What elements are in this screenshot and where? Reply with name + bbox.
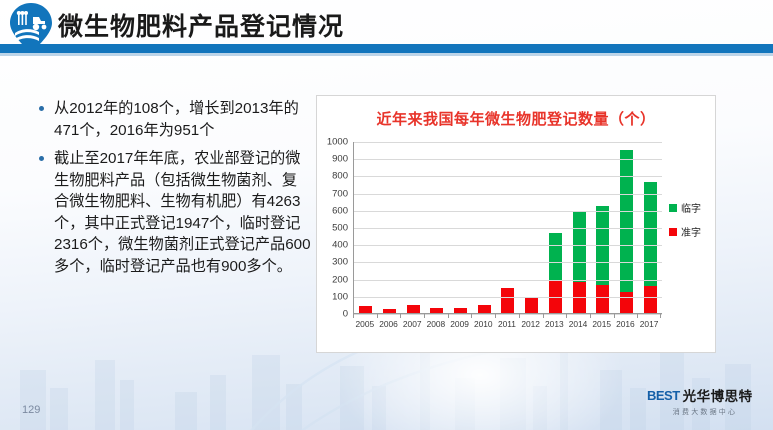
x-axis-tick-label: 2005 bbox=[353, 319, 377, 329]
chart-plot-area: 10009008007006005004003002001000 2005200… bbox=[317, 142, 717, 354]
x-axis-tick-label: 2010 bbox=[471, 319, 495, 329]
y-axis-tick-label: 500 bbox=[332, 223, 348, 234]
x-axis-tick-label: 2007 bbox=[400, 319, 424, 329]
x-axis-labels: 2005200620072008200920102011201220132014… bbox=[353, 319, 661, 329]
bar-segment-zhunzi[interactable] bbox=[525, 298, 538, 314]
gridline bbox=[354, 194, 662, 195]
bar-segment-linzi[interactable] bbox=[573, 211, 586, 282]
chart-panel: 近年来我国每年微生物肥登记数量（个） 100090080070060050040… bbox=[316, 95, 716, 353]
legend-label: 准字 bbox=[681, 224, 701, 239]
gridline bbox=[354, 228, 662, 229]
agriculture-location-pin-icon bbox=[8, 2, 54, 54]
bar-segment-linzi[interactable] bbox=[644, 182, 657, 286]
x-axis-tick-label: 2013 bbox=[543, 319, 567, 329]
bar-segment-zhunzi[interactable] bbox=[620, 292, 633, 314]
bar-segment-zhunzi[interactable] bbox=[573, 282, 586, 314]
list-item: 从2012年的108个，增长到2013年的471个，2016年为951个 bbox=[36, 98, 311, 141]
x-axis-tick-label: 2015 bbox=[590, 319, 614, 329]
bar-segment-linzi[interactable] bbox=[549, 233, 562, 280]
stacked-bar[interactable] bbox=[501, 288, 514, 314]
brand-subtitle: 消费大数据中心 bbox=[647, 407, 763, 417]
stacked-bar[interactable] bbox=[620, 150, 633, 314]
y-axis-tick-label: 1000 bbox=[327, 137, 348, 148]
x-axis-tick-label: 2006 bbox=[377, 319, 401, 329]
legend-swatch bbox=[669, 204, 677, 212]
gridline bbox=[354, 159, 662, 160]
x-axis-tick-label: 2017 bbox=[637, 319, 661, 329]
y-axis-tick-label: 700 bbox=[332, 188, 348, 199]
bar-segment-linzi[interactable] bbox=[620, 150, 633, 291]
x-axis-tick-label: 2009 bbox=[448, 319, 472, 329]
bar-segment-zhunzi[interactable] bbox=[596, 285, 609, 314]
plot-grid bbox=[353, 142, 661, 314]
legend-swatch bbox=[669, 228, 677, 236]
chart-title: 近年来我国每年微生物肥登记数量（个） bbox=[317, 96, 715, 129]
header-accent-bar-secondary bbox=[0, 53, 773, 56]
y-axis-tick-label: 400 bbox=[332, 240, 348, 251]
gridline bbox=[354, 176, 662, 177]
page-title: 微生物肥料产品登记情况 bbox=[58, 7, 344, 43]
legend-item[interactable]: 准字 bbox=[669, 224, 715, 239]
gridline bbox=[354, 245, 662, 246]
y-axis-tick-label: 0 bbox=[343, 309, 348, 320]
list-item: 截止至2017年年底，农业部登记的微生物肥料产品（包括微生物菌剂、复合微生物肥料… bbox=[36, 148, 311, 277]
brand-watermark: BEST 光华博思特 消费大数据中心 bbox=[647, 385, 763, 417]
brand-name: 光华博思特 bbox=[683, 385, 753, 405]
y-axis-tick-label: 800 bbox=[332, 171, 348, 182]
stacked-bar[interactable] bbox=[644, 182, 657, 314]
x-axis-tick-label: 2012 bbox=[519, 319, 543, 329]
y-axis-tick-label: 200 bbox=[332, 274, 348, 285]
x-axis-tick-label: 2014 bbox=[566, 319, 590, 329]
legend-label: 临字 bbox=[681, 200, 701, 215]
gridline bbox=[354, 297, 662, 298]
bar-segment-zhunzi[interactable] bbox=[644, 286, 657, 314]
x-axis-tick-label: 2011 bbox=[495, 319, 519, 329]
y-axis-tick-label: 300 bbox=[332, 257, 348, 268]
bullet-list: 从2012年的108个，增长到2013年的471个，2016年为951个 截止至… bbox=[36, 98, 311, 285]
y-axis-tick-label: 100 bbox=[332, 291, 348, 302]
gridline bbox=[354, 280, 662, 281]
gridline bbox=[354, 142, 662, 143]
gridline bbox=[354, 262, 662, 263]
brand-mark: BEST bbox=[647, 388, 680, 403]
x-axis-tick-label: 2008 bbox=[424, 319, 448, 329]
page-number: 129 bbox=[22, 404, 40, 416]
bar-segment-zhunzi[interactable] bbox=[501, 288, 514, 314]
x-axis-tick-label: 2016 bbox=[614, 319, 638, 329]
y-axis-tick-label: 900 bbox=[332, 154, 348, 165]
y-axis-tick-label: 600 bbox=[332, 205, 348, 216]
legend-item[interactable]: 临字 bbox=[669, 200, 715, 215]
gridline bbox=[354, 211, 662, 212]
y-axis-labels: 10009008007006005004003002001000 bbox=[317, 142, 351, 314]
header-accent-bar bbox=[0, 44, 773, 53]
chart-legend: 临字准字 bbox=[669, 200, 715, 248]
stacked-bar[interactable] bbox=[525, 298, 538, 314]
